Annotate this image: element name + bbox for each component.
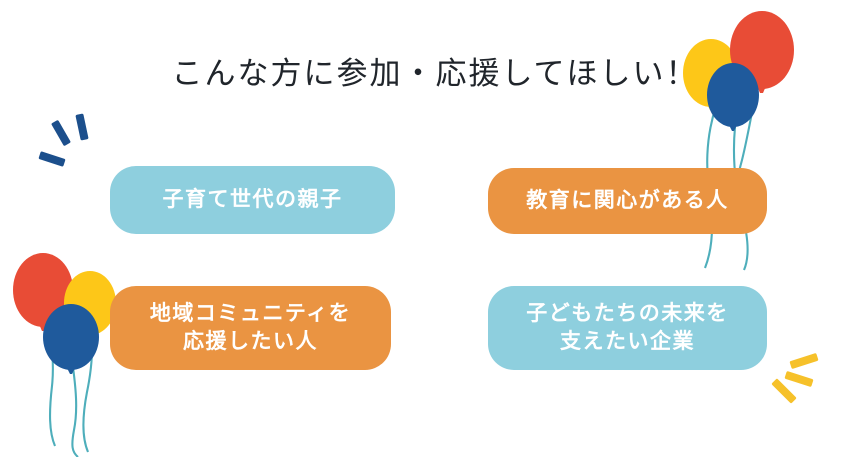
sparkle-dash xyxy=(784,371,813,387)
card-parents-label: 子育て世代の親子 xyxy=(163,186,343,214)
card-company-label: 子どもたちの未来を 支えたい企業 xyxy=(526,300,729,355)
balloon-yellow xyxy=(64,271,116,339)
sparkle-dash xyxy=(75,113,88,140)
balloon-string xyxy=(72,360,78,457)
balloon-cluster-bottom-left xyxy=(13,253,116,457)
sparkle-dash xyxy=(789,353,818,369)
card-company[interactable]: 子どもたちの未来を 支えたい企業 xyxy=(488,286,767,370)
card-community-label: 地域コミュニティを 応援したい人 xyxy=(150,300,351,355)
card-education-label: 教育に関心がある人 xyxy=(526,187,729,215)
card-community[interactable]: 地域コミュニティを 応援したい人 xyxy=(110,286,391,370)
sparkle-burst-bottom-right xyxy=(771,353,818,404)
page-title: こんな方に参加・応援してほしい！ xyxy=(0,48,864,93)
sparkle-dash xyxy=(51,120,71,147)
sparkle-dash xyxy=(38,151,65,167)
sparkle-burst-top-left xyxy=(38,113,88,166)
balloon-string xyxy=(44,301,55,446)
card-parents[interactable]: 子育て世代の親子 xyxy=(110,166,395,234)
card-education[interactable]: 教育に関心がある人 xyxy=(488,168,767,234)
balloon-string xyxy=(83,315,92,452)
sparkle-dash xyxy=(771,378,796,403)
balloon-red xyxy=(13,253,73,331)
poster-canvas: こんな方に参加・応援してほしい！ 子育て世代の親子 教育に関心がある人 地域コミ… xyxy=(0,0,864,457)
balloon-blue xyxy=(43,304,99,374)
